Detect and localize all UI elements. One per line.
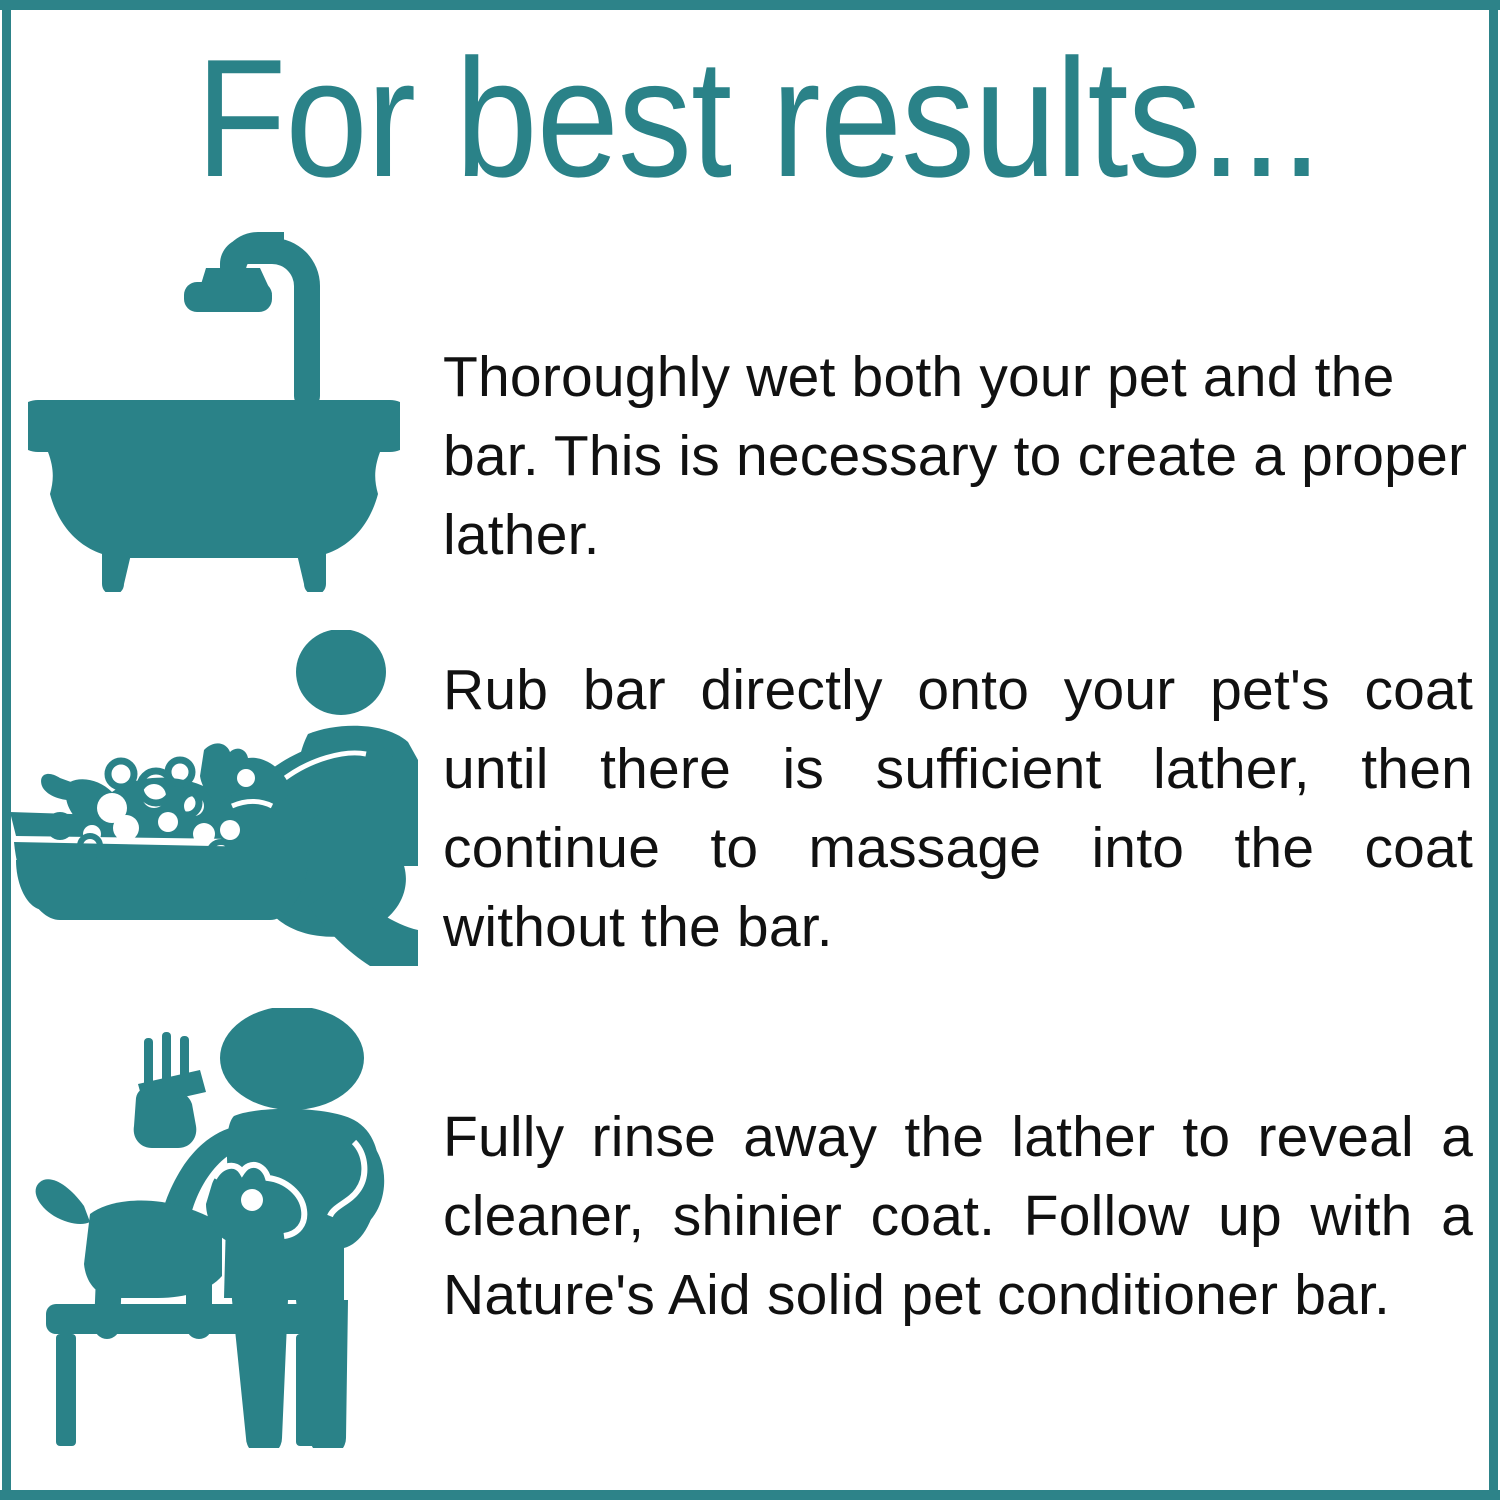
page-title: For best results... [196, 34, 1305, 202]
frame-border-bottom [0, 1490, 1500, 1500]
person-washing-dog-icon [8, 630, 418, 970]
bathtub-shower-icon [28, 232, 400, 592]
instruction-poster: For best results... [0, 0, 1500, 1500]
step-2-text: Rub bar directly onto your pet's coat un… [443, 651, 1473, 967]
person-grooming-dog-icon [10, 1008, 410, 1448]
step-1-text: Thoroughly wet both your pet and the bar… [443, 338, 1473, 575]
step-3-text: Fully rinse away the lather to reveal a … [443, 1098, 1473, 1335]
frame-border-right [1489, 0, 1498, 1500]
frame-border-top [0, 0, 1500, 10]
